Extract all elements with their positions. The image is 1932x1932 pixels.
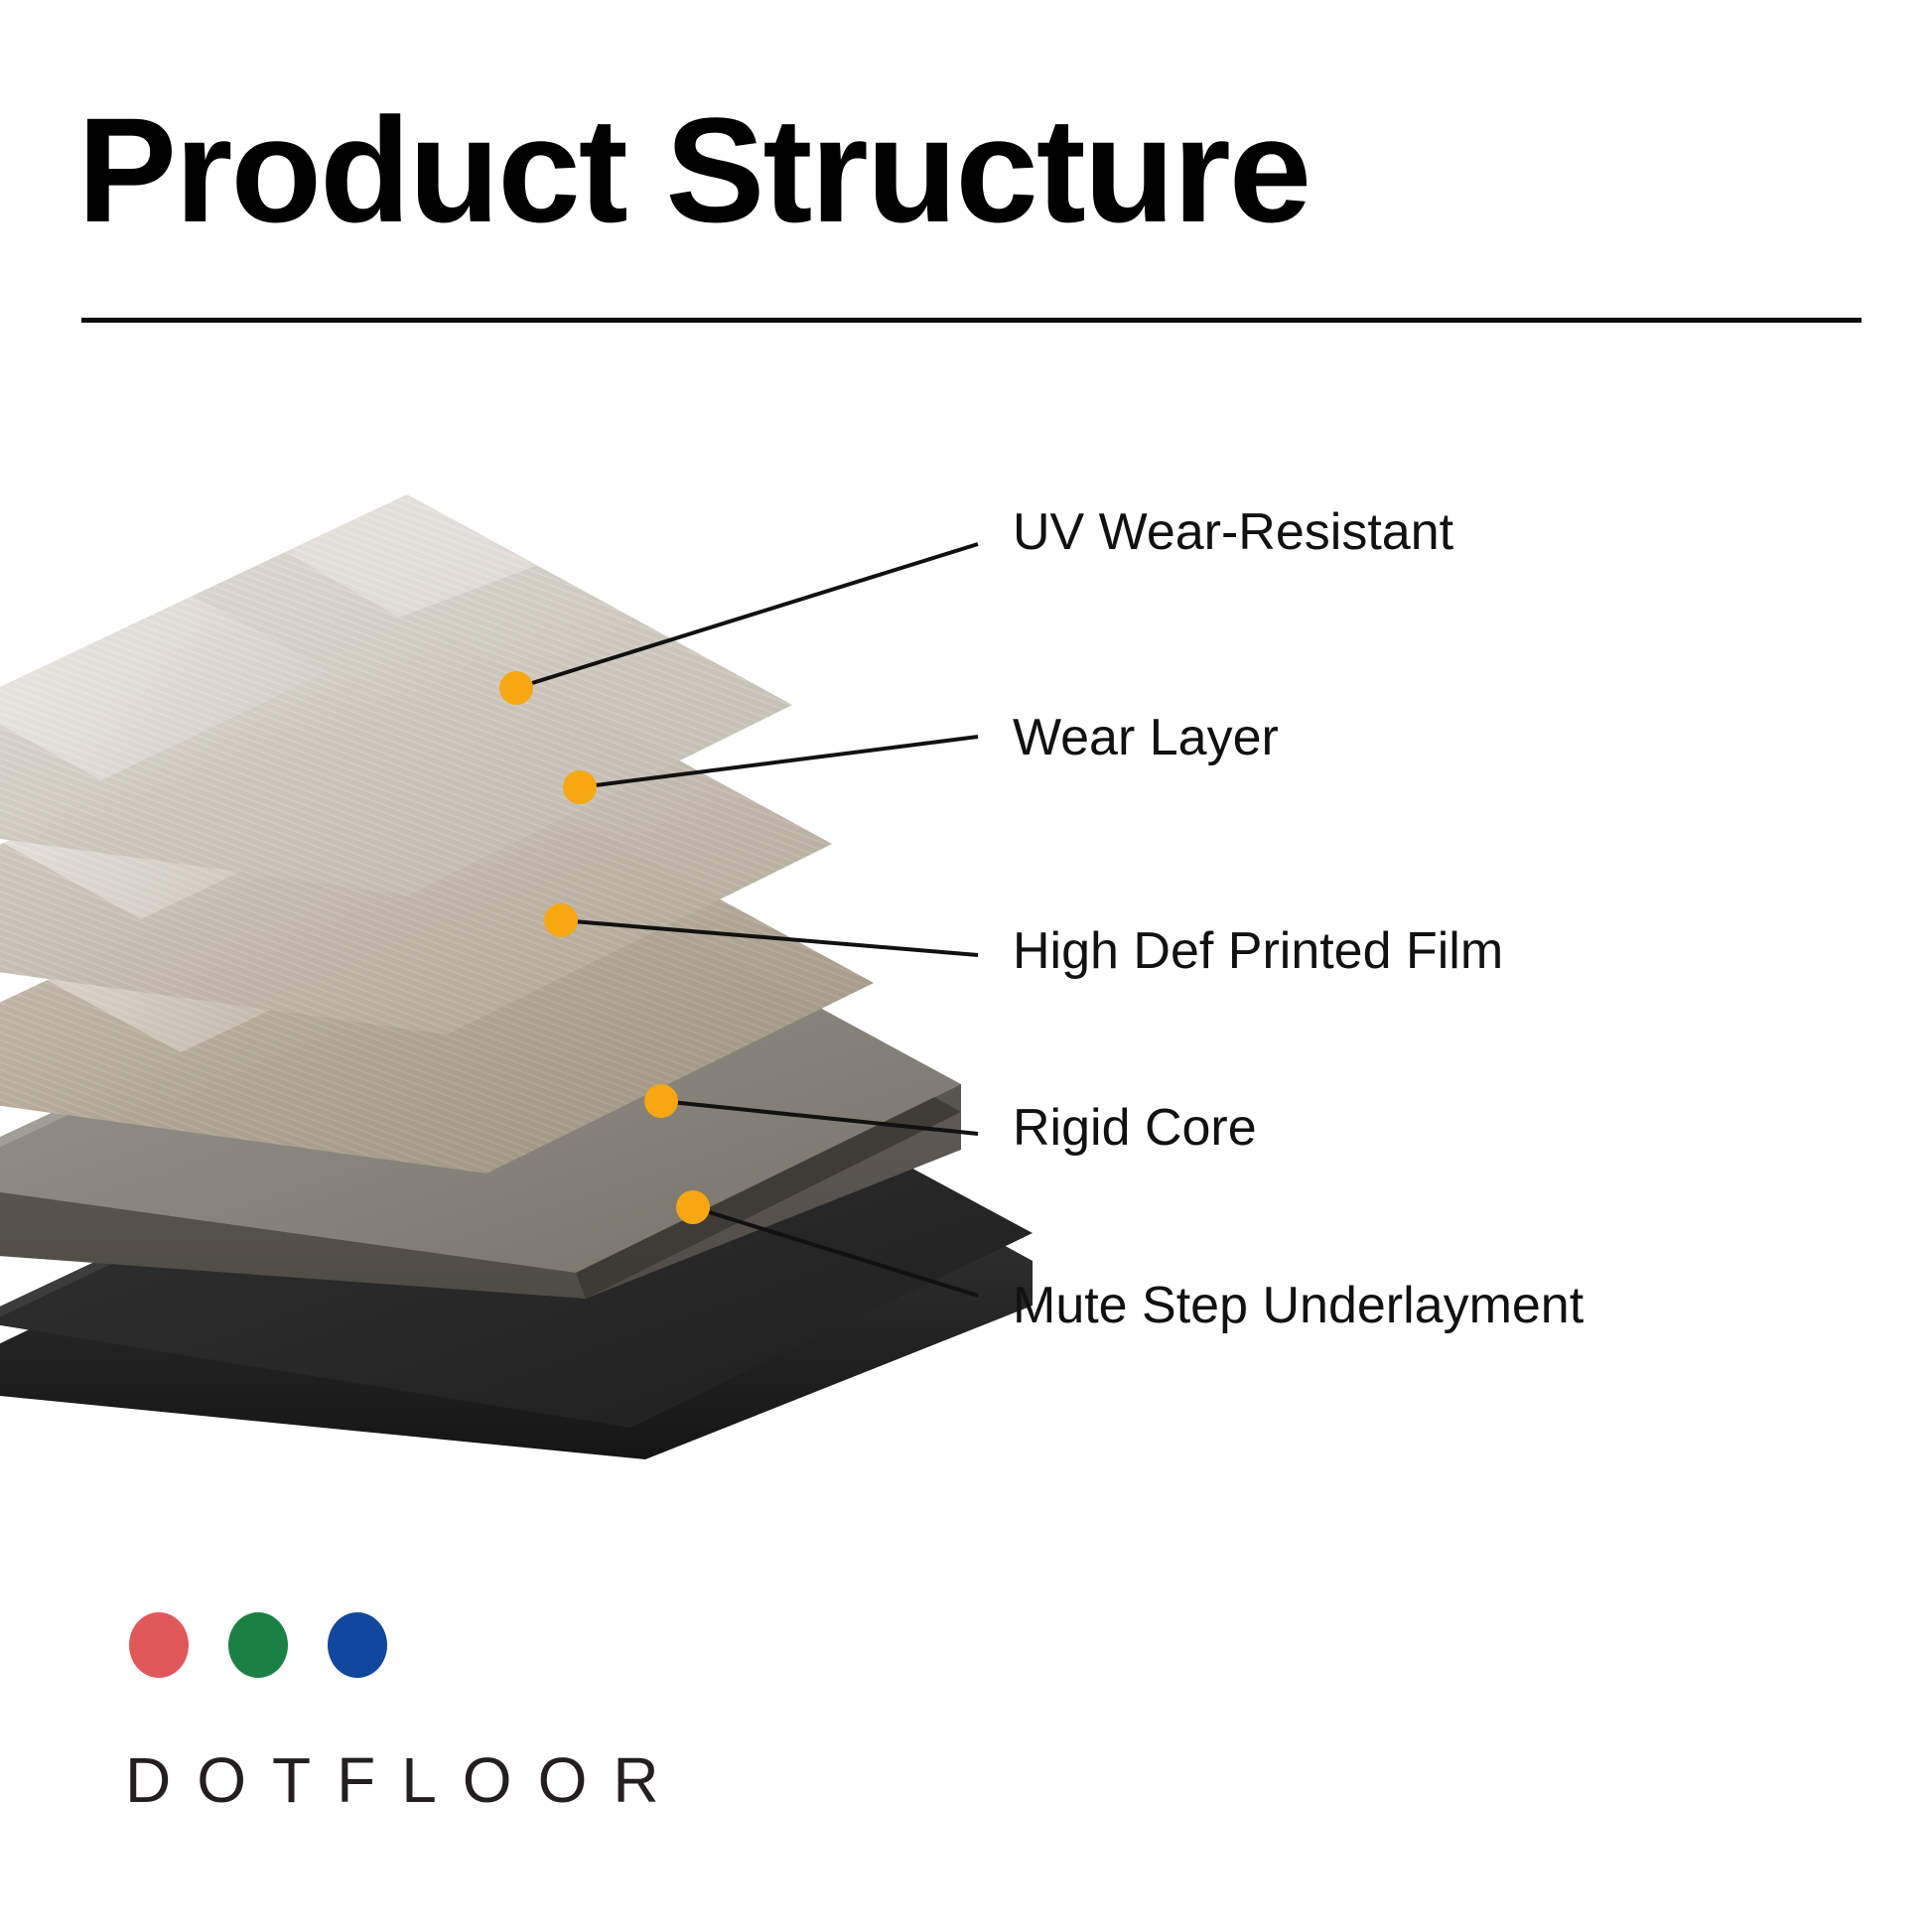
- label-mute-step-underlayment: Mute Step Underlayment: [1013, 1280, 1584, 1331]
- title-divider: [81, 318, 1862, 323]
- label-wear-layer: Wear Layer: [1013, 712, 1279, 763]
- logo-dot-blue: [328, 1612, 387, 1678]
- product-structure-infographic: Product Structure: [0, 0, 1932, 1932]
- page-title: Product Structure: [77, 95, 1310, 244]
- exploded-plank-illustration: [0, 328, 1033, 1459]
- logo-dot-red: [129, 1612, 189, 1678]
- label-high-def-printed-film: High Def Printed Film: [1013, 925, 1503, 977]
- logo-wordmark: DOTFLOOR: [125, 1743, 685, 1817]
- logo-dot-row: [129, 1612, 685, 1678]
- label-rigid-core: Rigid Core: [1013, 1102, 1257, 1154]
- label-uv-wear-resistant: UV Wear-Resistant: [1013, 506, 1453, 558]
- logo-dot-green: [228, 1612, 288, 1678]
- dotfloor-logo: DOTFLOOR: [125, 1612, 685, 1817]
